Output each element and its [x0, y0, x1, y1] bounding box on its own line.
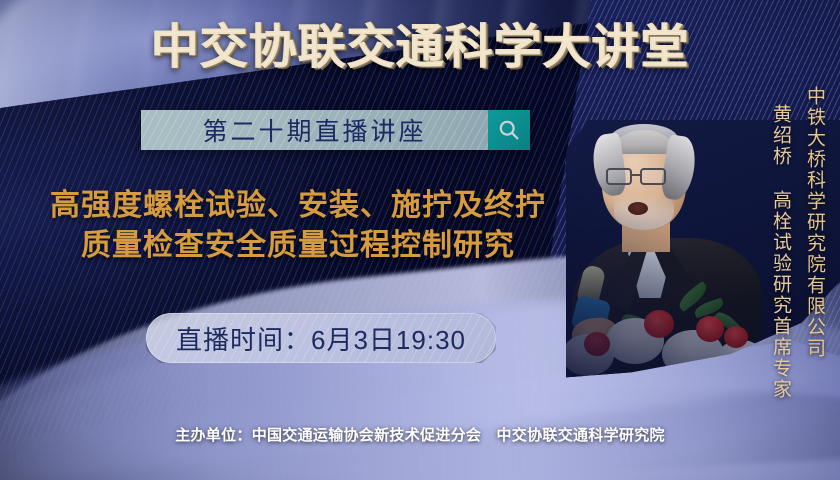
organizer-footer: 主办单位：中国交通运输协会新技术促进分会 中交协联交通科学研究院	[0, 424, 840, 445]
lecture-topic: 高强度螺栓试验、安装、施拧及终拧 质量检查安全质量过程控制研究	[8, 186, 588, 266]
page-title: 中交协联交通科学大讲堂	[0, 18, 840, 76]
search-icon	[497, 118, 521, 142]
episode-banner-body: 第二十期直播讲座	[141, 110, 488, 150]
live-time-badge: 直播时间：6月3日19:30	[146, 313, 496, 363]
speaker-organization: 中铁大桥科学研究院有限公司	[801, 86, 828, 359]
episode-banner: 第二十期直播讲座	[141, 110, 530, 150]
topic-line-1: 高强度螺栓试验、安装、施拧及终拧	[8, 186, 588, 226]
live-time-label: 直播时间：6月3日19:30	[176, 320, 466, 357]
episode-label: 第二十期直播讲座	[202, 112, 426, 148]
webinar-poster: 中交协联交通科学大讲堂 第二十期直播讲座 高强度螺栓试验、安装、施拧及终拧 质量…	[0, 0, 840, 480]
speaker-name-title: 黄绍桥 高栓试验研究首席专家	[767, 104, 794, 400]
search-button[interactable]	[488, 110, 530, 150]
topic-line-2: 质量检查安全质量过程控制研究	[8, 226, 588, 266]
